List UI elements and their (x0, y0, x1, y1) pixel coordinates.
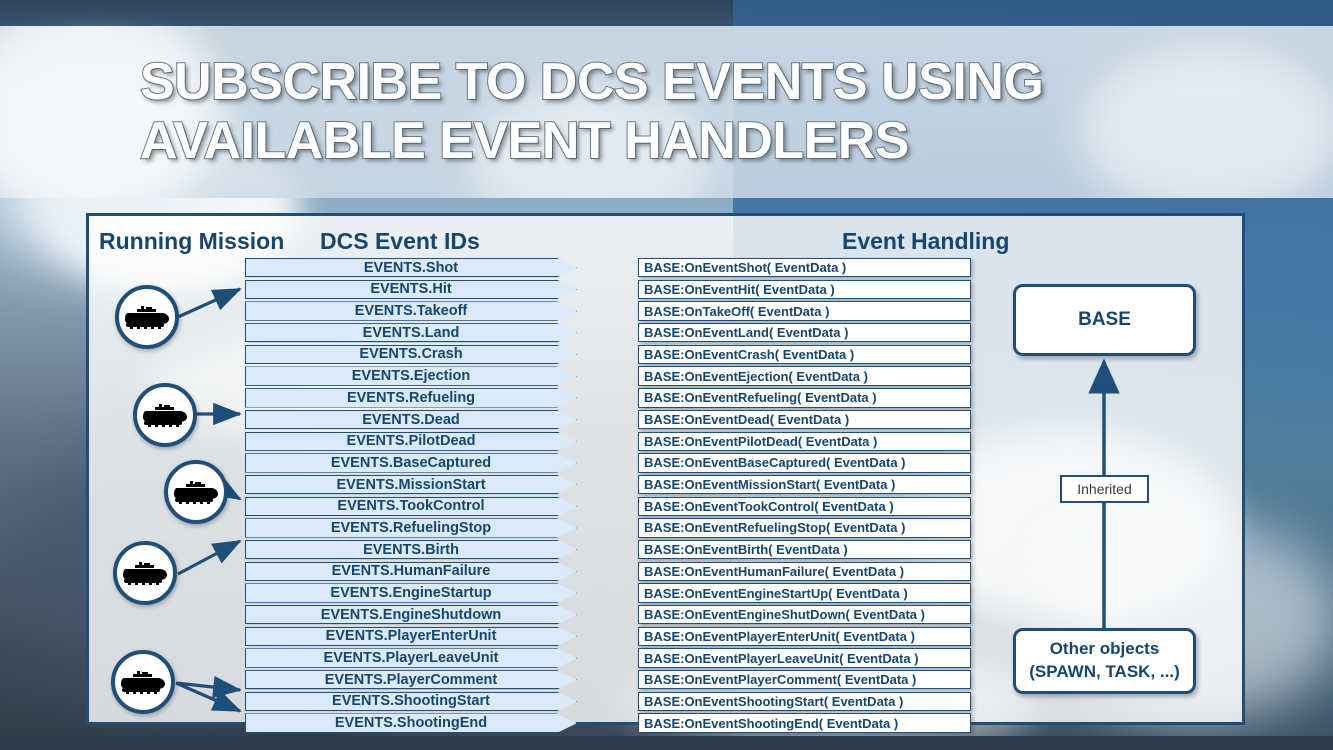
event-id-label: EVENTS.PilotDead (256, 433, 566, 449)
event-id-label: EVENTS.PlayerEnterUnit (256, 628, 566, 644)
event-handler-box[interactable]: BASE:OnEventCrash( EventData ) (638, 345, 971, 364)
event-handler-label: BASE:OnEventEjection( EventData ) (639, 369, 868, 384)
event-handler-box[interactable]: BASE:OnEventMissionStart( EventData ) (638, 475, 971, 494)
event-handler-box[interactable]: BASE:OnEventBaseCaptured( EventData ) (638, 453, 971, 472)
event-id-label: EVENTS.Refueling (256, 390, 566, 406)
base-class-box[interactable]: BASE (1013, 284, 1196, 356)
event-handler-box[interactable]: BASE:OnEventPlayerLeaveUnit( EventData ) (638, 648, 971, 667)
event-handler-box[interactable]: BASE:OnEventShootingEnd( EventData ) (638, 713, 971, 732)
event-id-label: EVENTS.PlayerComment (256, 672, 566, 688)
event-handler-box[interactable]: BASE:OnEventShot( EventData ) (638, 258, 971, 277)
event-handler-box[interactable]: BASE:OnEventLand( EventData ) (638, 323, 971, 342)
event-handler-label: BASE:OnEventRefueling( EventData ) (639, 390, 877, 405)
event-id-chevron[interactable]: EVENTS.Dead (245, 410, 577, 429)
event-id-label: EVENTS.HumanFailure (256, 563, 566, 579)
event-id-chevron[interactable]: EVENTS.PlayerComment (245, 670, 577, 689)
column-header-event-handling: Event Handling (842, 228, 1009, 255)
event-id-chevron[interactable]: EVENTS.Ejection (245, 366, 577, 385)
event-id-chevron[interactable]: EVENTS.EngineShutdown (245, 605, 577, 624)
event-handler-box[interactable]: BASE:OnEventPlayerEnterUnit( EventData ) (638, 627, 971, 646)
tank-icon (120, 669, 166, 695)
mission-unit-4[interactable] (113, 541, 177, 605)
tank-icon (122, 560, 168, 586)
mission-unit-1[interactable] (115, 285, 179, 349)
event-handler-label: BASE:OnEventEngineShutDown( EventData ) (639, 607, 925, 622)
event-id-list: EVENTS.ShotEVENTS.HitEVENTS.TakeoffEVENT… (245, 258, 577, 735)
event-id-label: EVENTS.Ejection (256, 368, 566, 384)
event-id-chevron[interactable]: EVENTS.PlayerEnterUnit (245, 627, 577, 646)
event-id-chevron[interactable]: EVENTS.PilotDead (245, 432, 577, 451)
event-id-chevron[interactable]: EVENTS.BaseCaptured (245, 453, 577, 472)
event-handler-label: BASE:OnEventPlayerLeaveUnit( EventData ) (639, 651, 919, 666)
event-handler-box[interactable]: BASE:OnEventRefueling( EventData ) (638, 388, 971, 407)
event-id-label: EVENTS.Birth (256, 542, 566, 558)
event-handler-label: BASE:OnEventPlayerEnterUnit( EventData ) (639, 629, 915, 644)
event-id-label: EVENTS.Dead (256, 412, 566, 428)
event-handler-label: BASE:OnEventHumanFailure( EventData ) (639, 564, 904, 579)
event-id-chevron[interactable]: EVENTS.MissionStart (245, 475, 577, 494)
event-handler-label: BASE:OnEventLand( EventData ) (639, 325, 848, 340)
event-handler-box[interactable]: BASE:OnTakeOff( EventData ) (638, 301, 971, 320)
event-handler-label: BASE:OnEventTookControl( EventData ) (639, 499, 894, 514)
title-line-1: SUBSCRIBE TO DCS EVENTS USING (140, 53, 1333, 112)
bottom-strip (0, 736, 1333, 750)
event-handler-box[interactable]: BASE:OnEventEngineStartUp( EventData ) (638, 583, 971, 602)
event-id-label: EVENTS.RefuelingStop (256, 520, 566, 536)
event-id-chevron[interactable]: EVENTS.ShootingStart (245, 692, 577, 711)
event-id-label: EVENTS.Takeoff (256, 303, 566, 319)
event-handler-box[interactable]: BASE:OnEventTookControl( EventData ) (638, 497, 971, 516)
column-header-dcs-event-ids: DCS Event IDs (320, 228, 480, 255)
event-handler-label: BASE:OnEventShot( EventData ) (639, 260, 846, 275)
event-id-label: EVENTS.PlayerLeaveUnit (256, 650, 566, 666)
event-handler-label: BASE:OnEventBaseCaptured( EventData ) (639, 455, 906, 470)
other-objects-box[interactable]: Other objects (SPAWN, TASK, ...) (1013, 628, 1196, 694)
event-id-label: EVENTS.Hit (256, 281, 566, 297)
event-handler-box[interactable]: BASE:OnEventHumanFailure( EventData ) (638, 562, 971, 581)
mission-unit-3[interactable] (164, 460, 228, 524)
inherited-edge-label: Inherited (1060, 475, 1149, 503)
other-objects-line-1: Other objects (1050, 638, 1160, 661)
event-id-chevron[interactable]: EVENTS.Land (245, 323, 577, 342)
event-id-label: EVENTS.EngineStartup (256, 585, 566, 601)
tank-icon (173, 479, 219, 505)
event-handler-label: BASE:OnEventPlayerComment( EventData ) (639, 672, 916, 687)
mission-unit-2[interactable] (133, 383, 197, 447)
event-id-label: EVENTS.BaseCaptured (256, 455, 566, 471)
event-handler-label: BASE:OnEventCrash( EventData ) (639, 347, 854, 362)
event-id-label: EVENTS.EngineShutdown (256, 607, 566, 623)
event-handler-label: BASE:OnTakeOff( EventData ) (639, 304, 829, 319)
event-handler-box[interactable]: BASE:OnEventPlayerComment( EventData ) (638, 670, 971, 689)
event-handler-box[interactable]: BASE:OnEventShootingStart( EventData ) (638, 692, 971, 711)
event-handler-label: BASE:OnEventHit( EventData ) (639, 282, 835, 297)
event-id-chevron[interactable]: EVENTS.Hit (245, 280, 577, 299)
event-id-chevron[interactable]: EVENTS.Birth (245, 540, 577, 559)
event-handler-box[interactable]: BASE:OnEventPilotDead( EventData ) (638, 432, 971, 451)
base-class-label: BASE (1078, 309, 1131, 331)
column-header-running-mission: Running Mission (99, 228, 284, 255)
event-id-label: EVENTS.Land (256, 325, 566, 341)
event-handler-label: BASE:OnEventPilotDead( EventData ) (639, 434, 877, 449)
other-objects-line-2: (SPAWN, TASK, ...) (1029, 661, 1179, 684)
event-id-label: EVENTS.Shot (256, 260, 566, 276)
title-line-2: AVAILABLE EVENT HANDLERS (140, 112, 1333, 171)
event-handler-label: BASE:OnEventShootingEnd( EventData ) (639, 716, 898, 731)
event-id-chevron[interactable]: EVENTS.Refueling (245, 388, 577, 407)
event-handler-label: BASE:OnEventRefuelingStop( EventData ) (639, 520, 905, 535)
event-id-chevron[interactable]: EVENTS.RefuelingStop (245, 518, 577, 537)
event-id-chevron[interactable]: EVENTS.Shot (245, 258, 577, 277)
event-handler-box[interactable]: BASE:OnEventEjection( EventData ) (638, 366, 971, 385)
event-id-chevron[interactable]: EVENTS.ShootingEnd (245, 713, 577, 732)
page-title: SUBSCRIBE TO DCS EVENTS USING AVAILABLE … (0, 26, 1333, 198)
event-id-label: EVENTS.Crash (256, 346, 566, 362)
event-handler-label: BASE:OnEventBirth( EventData ) (639, 542, 848, 557)
event-id-chevron[interactable]: EVENTS.EngineStartup (245, 583, 577, 602)
mission-unit-5[interactable] (111, 650, 175, 714)
event-handler-box[interactable]: BASE:OnEventRefuelingStop( EventData ) (638, 518, 971, 537)
event-handler-list: BASE:OnEventShot( EventData )BASE:OnEven… (638, 258, 971, 735)
event-id-chevron[interactable]: EVENTS.Takeoff (245, 301, 577, 320)
event-id-label: EVENTS.MissionStart (256, 477, 566, 493)
event-handler-label: BASE:OnEventEngineStartUp( EventData ) (639, 586, 908, 601)
tank-icon (142, 402, 188, 428)
event-handler-label: BASE:OnEventDead( EventData ) (639, 412, 849, 427)
inherited-label-text: Inherited (1077, 481, 1131, 497)
event-id-label: EVENTS.TookControl (256, 498, 566, 514)
event-id-label: EVENTS.ShootingStart (256, 693, 566, 709)
event-id-chevron[interactable]: EVENTS.PlayerLeaveUnit (245, 648, 577, 667)
event-id-chevron[interactable]: EVENTS.TookControl (245, 497, 577, 516)
event-handler-label: BASE:OnEventMissionStart( EventData ) (639, 477, 895, 492)
event-id-chevron[interactable]: EVENTS.HumanFailure (245, 562, 577, 581)
event-handler-box[interactable]: BASE:OnEventEngineShutDown( EventData ) (638, 605, 971, 624)
event-id-chevron[interactable]: EVENTS.Crash (245, 345, 577, 364)
event-handler-box[interactable]: BASE:OnEventBirth( EventData ) (638, 540, 971, 559)
event-handler-label: BASE:OnEventShootingStart( EventData ) (639, 694, 903, 709)
event-handler-box[interactable]: BASE:OnEventDead( EventData ) (638, 410, 971, 429)
event-handler-box[interactable]: BASE:OnEventHit( EventData ) (638, 280, 971, 299)
event-id-label: EVENTS.ShootingEnd (256, 715, 566, 731)
tank-icon (124, 304, 170, 330)
